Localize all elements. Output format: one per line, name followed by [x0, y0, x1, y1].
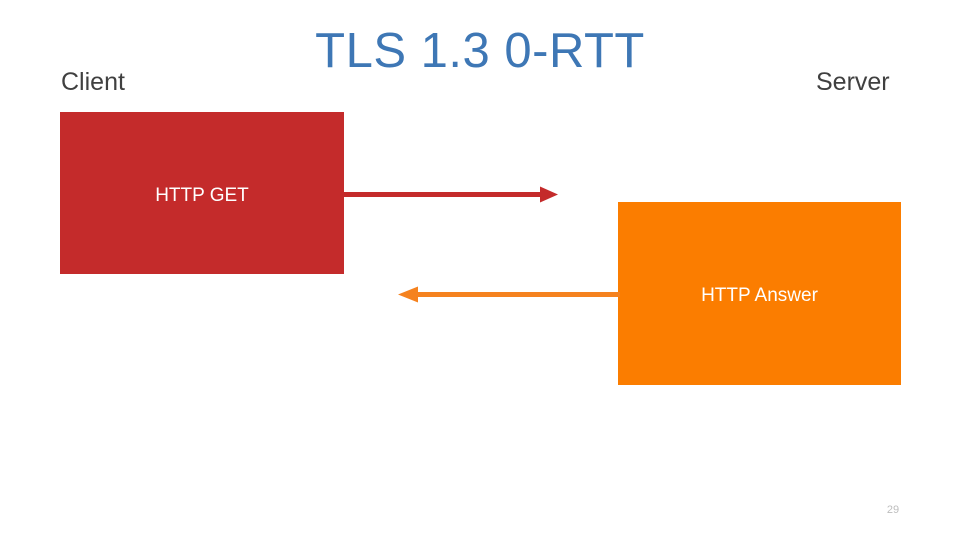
server-label: Server [816, 70, 890, 95]
client-request-box: HTTP GET [60, 112, 344, 274]
page-number: 29 [878, 505, 908, 516]
response-arrow-icon [394, 282, 624, 308]
client-request-label: HTTP GET [155, 186, 249, 205]
request-arrow-icon [340, 182, 564, 208]
server-response-label: HTTP Answer [701, 286, 818, 305]
client-label: Client [61, 70, 125, 95]
slide-canvas: TLS 1.3 0-RTT Client Server HTTP GET HTT… [0, 0, 960, 540]
server-response-box: HTTP Answer [618, 202, 901, 385]
